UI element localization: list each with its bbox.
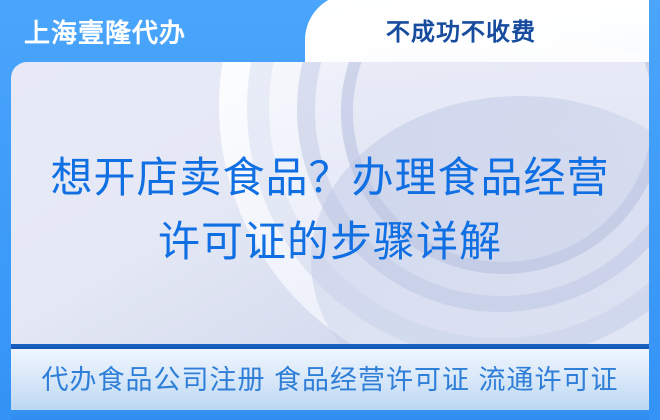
keywords-text: 代办食品公司注册 食品经营许可证 流通许可证 — [41, 363, 618, 397]
main-panel: 想开店卖食品？办理食品经营 许可证的步骤详解 — [11, 62, 649, 344]
keywords-bar: 代办食品公司注册 食品经营许可证 流通许可证 — [11, 349, 649, 410]
brand-name: 上海壹隆代办 — [24, 17, 186, 49]
headline-line-2: 许可证的步骤详解 — [158, 210, 502, 274]
bottom-blue-foot — [0, 410, 660, 420]
headline-line-1: 想开店卖食品？办理食品经营 — [50, 146, 609, 210]
left-blue-rail — [0, 0, 11, 420]
right-blue-rail — [649, 0, 660, 420]
promo-banner: 上海壹隆代办 不成功不收费 想开店卖食品？办理食品经营 许可证的步骤详解 代办食… — [0, 0, 660, 420]
headline-block: 想开店卖食品？办理食品经营 许可证的步骤详解 — [11, 62, 649, 344]
slogan-text: 不成功不收费 — [386, 18, 536, 48]
